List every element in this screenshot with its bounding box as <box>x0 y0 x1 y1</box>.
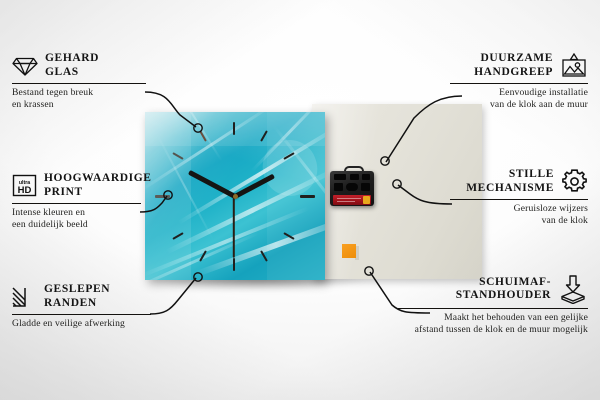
feature-description: Gladde en veilige afwerking <box>12 318 151 330</box>
diamond-icon <box>12 55 38 77</box>
feature-duurzame-handgreep: DUURZAME HANDGREEP Eenvoudige installati… <box>450 52 588 111</box>
feature-divider <box>450 83 588 84</box>
feature-description: Eenvoudige installatie van de klok aan d… <box>450 87 588 110</box>
clock-mechanism <box>330 166 374 206</box>
feature-divider <box>12 203 141 204</box>
feature-title: GEHARD GLAS <box>45 52 99 79</box>
feature-header: DUURZAME HANDGREEP <box>450 52 588 79</box>
feature-hoogwaardige-print: ultra HD HOOGWAARDIGE PRINT Intense kleu… <box>12 172 141 231</box>
feature-title: HOOGWAARDIGE PRINT <box>44 172 152 199</box>
infographic-canvas: GEHARD GLAS Bestand tegen breuk en krass… <box>0 0 600 400</box>
clock-hand-second <box>233 196 235 258</box>
feature-divider <box>12 83 146 84</box>
feature-description: Bestand tegen breuk en krassen <box>12 87 146 110</box>
picture-frame-icon <box>560 53 588 79</box>
feature-description: Maakt het behouden van een gelijke afsta… <box>398 312 588 335</box>
clock-tick <box>155 195 170 198</box>
mechanism-body <box>330 171 374 206</box>
glass-clock <box>145 112 325 280</box>
feature-header: ultra HD HOOGWAARDIGE PRINT <box>12 172 141 199</box>
feature-title: GESLEPEN RANDEN <box>44 283 110 310</box>
clock-hub <box>233 194 238 199</box>
feature-description: Geruisloze wijzers van de klok <box>450 203 588 226</box>
feature-header: GESLEPEN RANDEN <box>12 283 151 310</box>
feature-divider <box>450 199 588 200</box>
battery-plus-terminal <box>363 196 370 204</box>
feature-header: GEHARD GLAS <box>12 52 146 79</box>
beveled-edges-icon <box>12 286 37 308</box>
clock-tick <box>233 122 235 135</box>
feature-divider <box>398 308 588 309</box>
feature-description: Intense kleuren en een duidelijk beeld <box>12 207 141 230</box>
gear-icon <box>561 168 588 195</box>
ultra-hd-icon: ultra HD <box>12 173 37 198</box>
feature-stille-mechanisme: STILLE MECHANISME Geruisloze wijzers van… <box>450 168 588 227</box>
feature-title: SCHUIMAF- STANDHOUDER <box>456 276 551 303</box>
feature-header: SCHUIMAF- STANDHOUDER <box>398 274 588 304</box>
clock-tick <box>233 258 235 271</box>
foam-spacer-pad <box>342 244 359 260</box>
feature-geslepen-randen: GESLEPEN RANDEN Gladde en veilige afwerk… <box>12 283 151 330</box>
feature-divider <box>12 314 151 315</box>
foam-spacer-icon <box>558 274 588 304</box>
product-group <box>142 104 362 282</box>
feature-title: DUURZAME HANDGREEP <box>474 52 553 79</box>
clock-tick <box>300 195 315 198</box>
feature-header: STILLE MECHANISME <box>450 168 588 195</box>
feature-title: STILLE MECHANISME <box>466 168 554 195</box>
svg-text:HD: HD <box>18 185 32 196</box>
mechanism-battery <box>333 195 371 205</box>
feature-gehard-glas: GEHARD GLAS Bestand tegen breuk en krass… <box>12 52 146 111</box>
feature-schuimafstandhouder: SCHUIMAF- STANDHOUDER Maakt het behouden… <box>398 274 588 336</box>
